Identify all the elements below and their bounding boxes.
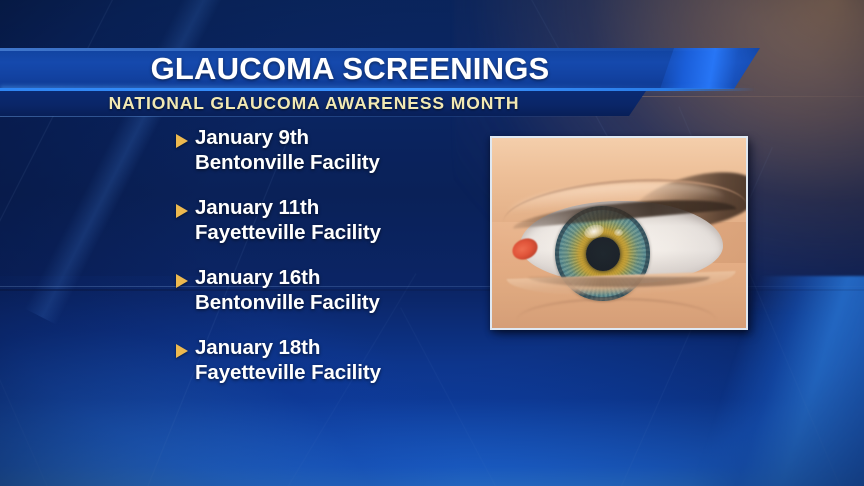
triangle-right-icon — [176, 344, 188, 358]
triangle-right-icon — [176, 274, 188, 288]
list-item: January 11th Fayetteville Facility — [176, 196, 496, 245]
event-location: Bentonville Facility — [195, 291, 496, 316]
triangle-right-icon — [176, 134, 188, 148]
eye-photo — [492, 138, 746, 328]
event-location: Fayetteville Facility — [195, 361, 496, 386]
list-item: January 9th Bentonville Facility — [176, 126, 496, 175]
event-location: Fayetteville Facility — [195, 221, 496, 246]
list-item: January 16th Bentonville Facility — [176, 266, 496, 315]
page-title: GLAUCOMA SCREENINGS — [0, 48, 760, 89]
event-date: January 16th — [195, 266, 496, 291]
event-date: January 11th — [195, 196, 496, 221]
pupil — [586, 237, 620, 271]
triangle-right-icon — [176, 204, 188, 218]
eye-photo-frame — [490, 136, 748, 330]
broadcast-graphic-slide: GLAUCOMA SCREENINGS NATIONAL GLAUCOMA AW… — [0, 0, 864, 486]
screening-schedule-list: January 9th Bentonville Facility January… — [176, 126, 496, 385]
list-item: January 18th Fayetteville Facility — [176, 336, 496, 385]
subtitle-underline — [0, 116, 640, 117]
page-subtitle: NATIONAL GLAUCOMA AWARENESS MONTH — [0, 91, 646, 116]
event-date: January 9th — [195, 126, 496, 151]
event-date: January 18th — [195, 336, 496, 361]
event-location: Bentonville Facility — [195, 151, 496, 176]
